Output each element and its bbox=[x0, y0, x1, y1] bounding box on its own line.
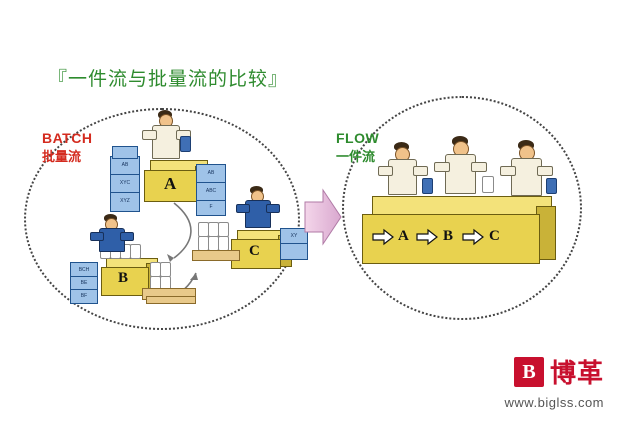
flow-letter-b: B bbox=[443, 228, 453, 245]
flow-worker-3-arm-left bbox=[500, 166, 516, 176]
flow-worker-3-item bbox=[546, 178, 557, 194]
flow-label-en: FLOW bbox=[336, 130, 379, 146]
crate-text-6: F bbox=[197, 204, 225, 210]
flow-worker-3-body bbox=[511, 158, 542, 196]
worker-c-arm-left bbox=[236, 204, 250, 213]
flow-worker-2-arm-right bbox=[471, 162, 487, 172]
crate-text-2: XYZ bbox=[111, 198, 139, 204]
flow-arrow-1 bbox=[372, 228, 394, 246]
page-title: 『一件流与批量流的比较』 bbox=[48, 64, 288, 91]
station-letter-b: B bbox=[118, 270, 128, 287]
cyl-b6 bbox=[160, 262, 171, 277]
crate-left-a-1: AB bbox=[110, 156, 140, 176]
station-letter-c: C bbox=[249, 243, 260, 260]
brand-logo: B 博革 bbox=[514, 353, 604, 390]
crate-text-4: AB bbox=[197, 170, 225, 176]
flow-letter-a: A bbox=[398, 228, 409, 245]
cyl-c6 bbox=[218, 236, 229, 251]
logo-mark: B bbox=[514, 357, 544, 387]
flow-worker-1-arm-right bbox=[413, 166, 428, 176]
flow-label-cn: 一件流 bbox=[336, 146, 375, 165]
crate-left-a-4 bbox=[112, 146, 138, 159]
crate-left-a-3: XYZ bbox=[110, 192, 140, 212]
logo-url: www.biglss.com bbox=[505, 395, 604, 410]
flow-worker-1-body bbox=[388, 159, 417, 195]
logo-text: 博革 bbox=[550, 353, 604, 390]
worker-c-arm-right bbox=[266, 204, 280, 213]
crate-text-0: AB bbox=[111, 162, 139, 168]
crate-text-7: BCH bbox=[71, 267, 97, 273]
flow-letter-c: C bbox=[489, 228, 500, 245]
worker-b-arm-right bbox=[120, 232, 134, 241]
worker-a-item bbox=[180, 136, 191, 152]
crate-left-b-3: BF bbox=[70, 289, 98, 304]
crate-text-9: BF bbox=[71, 293, 97, 299]
flow-worker-1-arm-left bbox=[378, 166, 393, 176]
cyl-b4 bbox=[130, 244, 141, 259]
flow-worker-1-item bbox=[422, 178, 433, 194]
worker-b-arm-left bbox=[90, 232, 104, 241]
flow-worker-2-item bbox=[482, 176, 494, 193]
crate-text-1: XYC bbox=[111, 180, 139, 186]
flow-arrow-2 bbox=[416, 228, 438, 246]
pallet-b2 bbox=[146, 296, 196, 304]
worker-a-arm-left bbox=[142, 130, 157, 140]
cyl-c3 bbox=[218, 222, 229, 237]
diagram-canvas: 『一件流与批量流的比较』 BATCH 批量流 A AB XYC XYZ AB A… bbox=[0, 0, 620, 422]
flow-worker-3-arm-right bbox=[537, 166, 553, 176]
flow-worker-2-arm-left bbox=[434, 162, 450, 172]
flow-arrow-3 bbox=[462, 228, 484, 246]
crate-left-a-2: XYC bbox=[110, 174, 140, 194]
transition-arrow bbox=[303, 186, 343, 248]
crate-text-5: ABC bbox=[197, 188, 225, 194]
flow-worker-2-body bbox=[445, 154, 476, 194]
crate-right-a-2: ABC bbox=[196, 182, 226, 202]
crate-right-a-1: AB bbox=[196, 164, 226, 184]
station-letter-a: A bbox=[164, 174, 176, 194]
pallet-c bbox=[192, 250, 240, 261]
crate-text-8: BE bbox=[71, 280, 97, 286]
crate-right-a-3: F bbox=[196, 200, 226, 216]
